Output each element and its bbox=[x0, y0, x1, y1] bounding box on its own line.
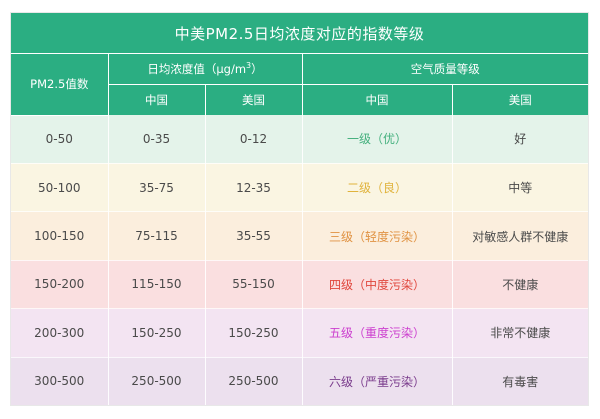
cell-concentration-usa: 55-150 bbox=[205, 260, 302, 308]
cell-pm25-index: 0-50 bbox=[11, 115, 108, 163]
cell-level-usa: 有毒害 bbox=[452, 357, 588, 405]
cell-level-usa: 对敏感人群不健康 bbox=[452, 212, 588, 260]
cell-pm25-index: 300-500 bbox=[11, 357, 108, 405]
header-group-concentration-tail: ） bbox=[251, 62, 263, 76]
cell-pm25-index: 100-150 bbox=[11, 212, 108, 260]
table-row: 50-100 35-75 12-35 二级（良） 中等 bbox=[11, 163, 588, 211]
header-concentration-usa: 美国 bbox=[205, 85, 302, 116]
table-row: 200-300 150-250 150-250 五级（重度污染） 非常不健康 bbox=[11, 309, 588, 357]
cell-level-china: 五级（重度污染） bbox=[302, 309, 452, 357]
cell-concentration-china: 35-75 bbox=[108, 163, 205, 211]
cell-concentration-usa: 150-250 bbox=[205, 309, 302, 357]
cell-concentration-china: 150-250 bbox=[108, 309, 205, 357]
cell-concentration-china: 75-115 bbox=[108, 212, 205, 260]
table-row: 150-200 115-150 55-150 四级（中度污染） 不健康 bbox=[11, 260, 588, 308]
header-concentration-china: 中国 bbox=[108, 85, 205, 116]
cell-concentration-china: 0-35 bbox=[108, 115, 205, 163]
table-title-row: 中美PM2.5日均浓度对应的指数等级 bbox=[11, 13, 588, 54]
cell-pm25-index: 50-100 bbox=[11, 163, 108, 211]
cell-level-usa: 非常不健康 bbox=[452, 309, 588, 357]
cell-level-china: 一级（优） bbox=[302, 115, 452, 163]
table-row: 100-150 75-115 35-55 三级（轻度污染） 对敏感人群不健康 bbox=[11, 212, 588, 260]
cell-level-usa: 不健康 bbox=[452, 260, 588, 308]
table-row: 300-500 250-500 250-500 六级（严重污染） 有毒害 bbox=[11, 357, 588, 405]
cell-level-china: 六级（严重污染） bbox=[302, 357, 452, 405]
table-header: 中美PM2.5日均浓度对应的指数等级 PM2.5值数 日均浓度值（μg/m3） … bbox=[11, 13, 588, 115]
header-group-concentration: 日均浓度值（μg/m3） bbox=[108, 54, 302, 85]
cell-concentration-usa: 12-35 bbox=[205, 163, 302, 211]
cell-concentration-usa: 35-55 bbox=[205, 212, 302, 260]
cell-pm25-index: 200-300 bbox=[11, 309, 108, 357]
cell-level-china: 二级（良） bbox=[302, 163, 452, 211]
table-body: 0-50 0-35 0-12 一级（优） 好 50-100 35-75 12-3… bbox=[11, 115, 588, 405]
header-group-row: PM2.5值数 日均浓度值（μg/m3） 空气质量等级 bbox=[11, 54, 588, 85]
header-quality-china: 中国 bbox=[302, 85, 452, 116]
cell-concentration-usa: 250-500 bbox=[205, 357, 302, 405]
cell-concentration-usa: 0-12 bbox=[205, 115, 302, 163]
cell-level-china: 四级（中度污染） bbox=[302, 260, 452, 308]
cell-pm25-index: 150-200 bbox=[11, 260, 108, 308]
cell-concentration-china: 250-500 bbox=[108, 357, 205, 405]
cell-level-usa: 好 bbox=[452, 115, 588, 163]
header-group-air-quality: 空气质量等级 bbox=[302, 54, 588, 85]
header-pm25-index: PM2.5值数 bbox=[11, 54, 108, 116]
table-row: 0-50 0-35 0-12 一级（优） 好 bbox=[11, 115, 588, 163]
cell-level-usa: 中等 bbox=[452, 163, 588, 211]
cell-concentration-china: 115-150 bbox=[108, 260, 205, 308]
header-quality-usa: 美国 bbox=[452, 85, 588, 116]
pm25-comparison-table-container: 中美PM2.5日均浓度对应的指数等级 PM2.5值数 日均浓度值（μg/m3） … bbox=[11, 13, 588, 405]
table-title: 中美PM2.5日均浓度对应的指数等级 bbox=[11, 13, 588, 54]
cell-level-china: 三级（轻度污染） bbox=[302, 212, 452, 260]
header-group-concentration-text: 日均浓度值（μg/m bbox=[147, 62, 246, 76]
pm25-comparison-table: 中美PM2.5日均浓度对应的指数等级 PM2.5值数 日均浓度值（μg/m3） … bbox=[11, 13, 588, 405]
